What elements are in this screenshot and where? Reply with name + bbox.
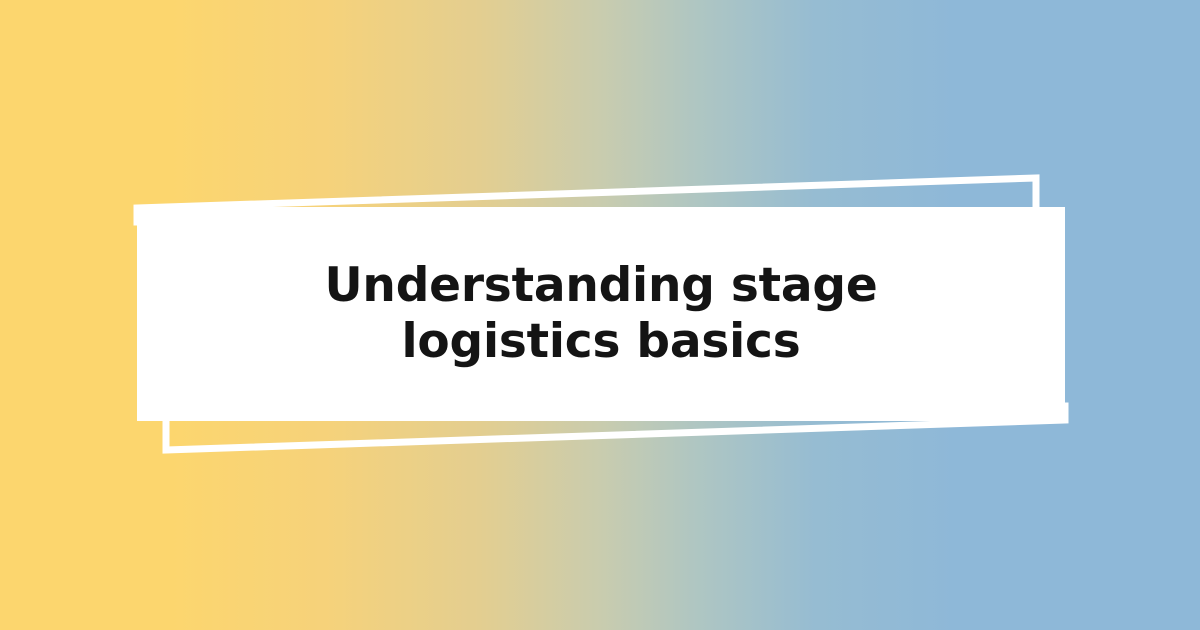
page-title: Understanding stage logistics basics [221,258,981,371]
title-card-content: Understanding stage logistics basics [137,207,1065,421]
og-image-canvas: Understanding stage logistics basics [0,0,1200,630]
